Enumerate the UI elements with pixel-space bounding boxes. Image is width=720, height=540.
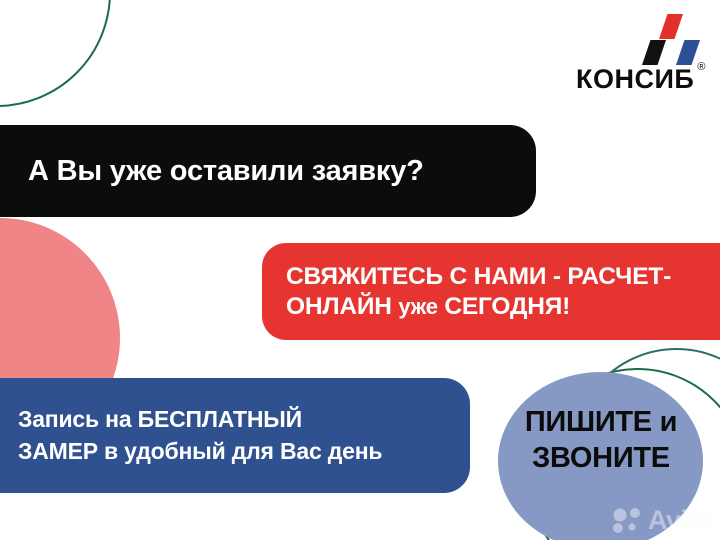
avito-dots-icon: [612, 508, 646, 534]
call-to-action-line-1: ПИШИТЕ и: [498, 404, 704, 440]
contact-banner-online: ОНЛАЙН: [286, 293, 392, 320]
logo-mark-icon: [576, 14, 706, 66]
contact-banner-text: СВЯЖИТЕСЬ С НАМИ - РАСЧЕТ- ОНЛАЙН уже СЕ…: [286, 262, 671, 322]
contact-banner-line-1: СВЯЖИТЕСЬ С НАМИ - РАСЧЕТ-: [286, 262, 671, 292]
call-to-action-text: ПИШИТЕ и ЗВОНИТЕ: [498, 404, 704, 477]
brand-logo: КОНСИБ ®: [576, 14, 706, 106]
contact-banner-today: СЕГОДНЯ!: [444, 293, 570, 320]
call-to-action-line-2: ЗВОНИТЕ: [498, 440, 704, 476]
free-measurement-line-2: ЗАМЕР в удобный для Вас день: [18, 436, 382, 468]
free-measurement-line-1: Запись на БЕСПЛАТНЫЙ: [18, 404, 382, 436]
logo-wordmark: КОНСИБ ®: [576, 66, 706, 93]
decorative-arc-top-left: [0, 0, 111, 107]
free-measurement-banner-text: Запись на БЕСПЛАТНЫЙ ЗАМЕР в удобный для…: [18, 404, 382, 467]
contact-banner: СВЯЖИТЕСЬ С НАМИ - РАСЧЕТ- ОНЛАЙН уже СЕ…: [262, 243, 720, 340]
avito-watermark-label: Avito: [648, 507, 712, 534]
registered-trademark-icon: ®: [697, 62, 706, 73]
question-banner-text: А Вы уже оставили заявку?: [28, 155, 424, 188]
contact-banner-line-2: ОНЛАЙН уже СЕГОДНЯ!: [286, 292, 671, 322]
logo-wordmark-text: КОНСИБ: [576, 64, 694, 94]
poster-canvas: КОНСИБ ® А Вы уже оставили заявку? СВЯЖИ…: [0, 0, 720, 540]
free-measurement-banner: Запись на БЕСПЛАТНЫЙ ЗАМЕР в удобный для…: [0, 378, 470, 493]
avito-watermark: Avito: [612, 507, 712, 534]
contact-banner-already: уже: [398, 294, 437, 319]
question-banner: А Вы уже оставили заявку?: [0, 125, 536, 217]
